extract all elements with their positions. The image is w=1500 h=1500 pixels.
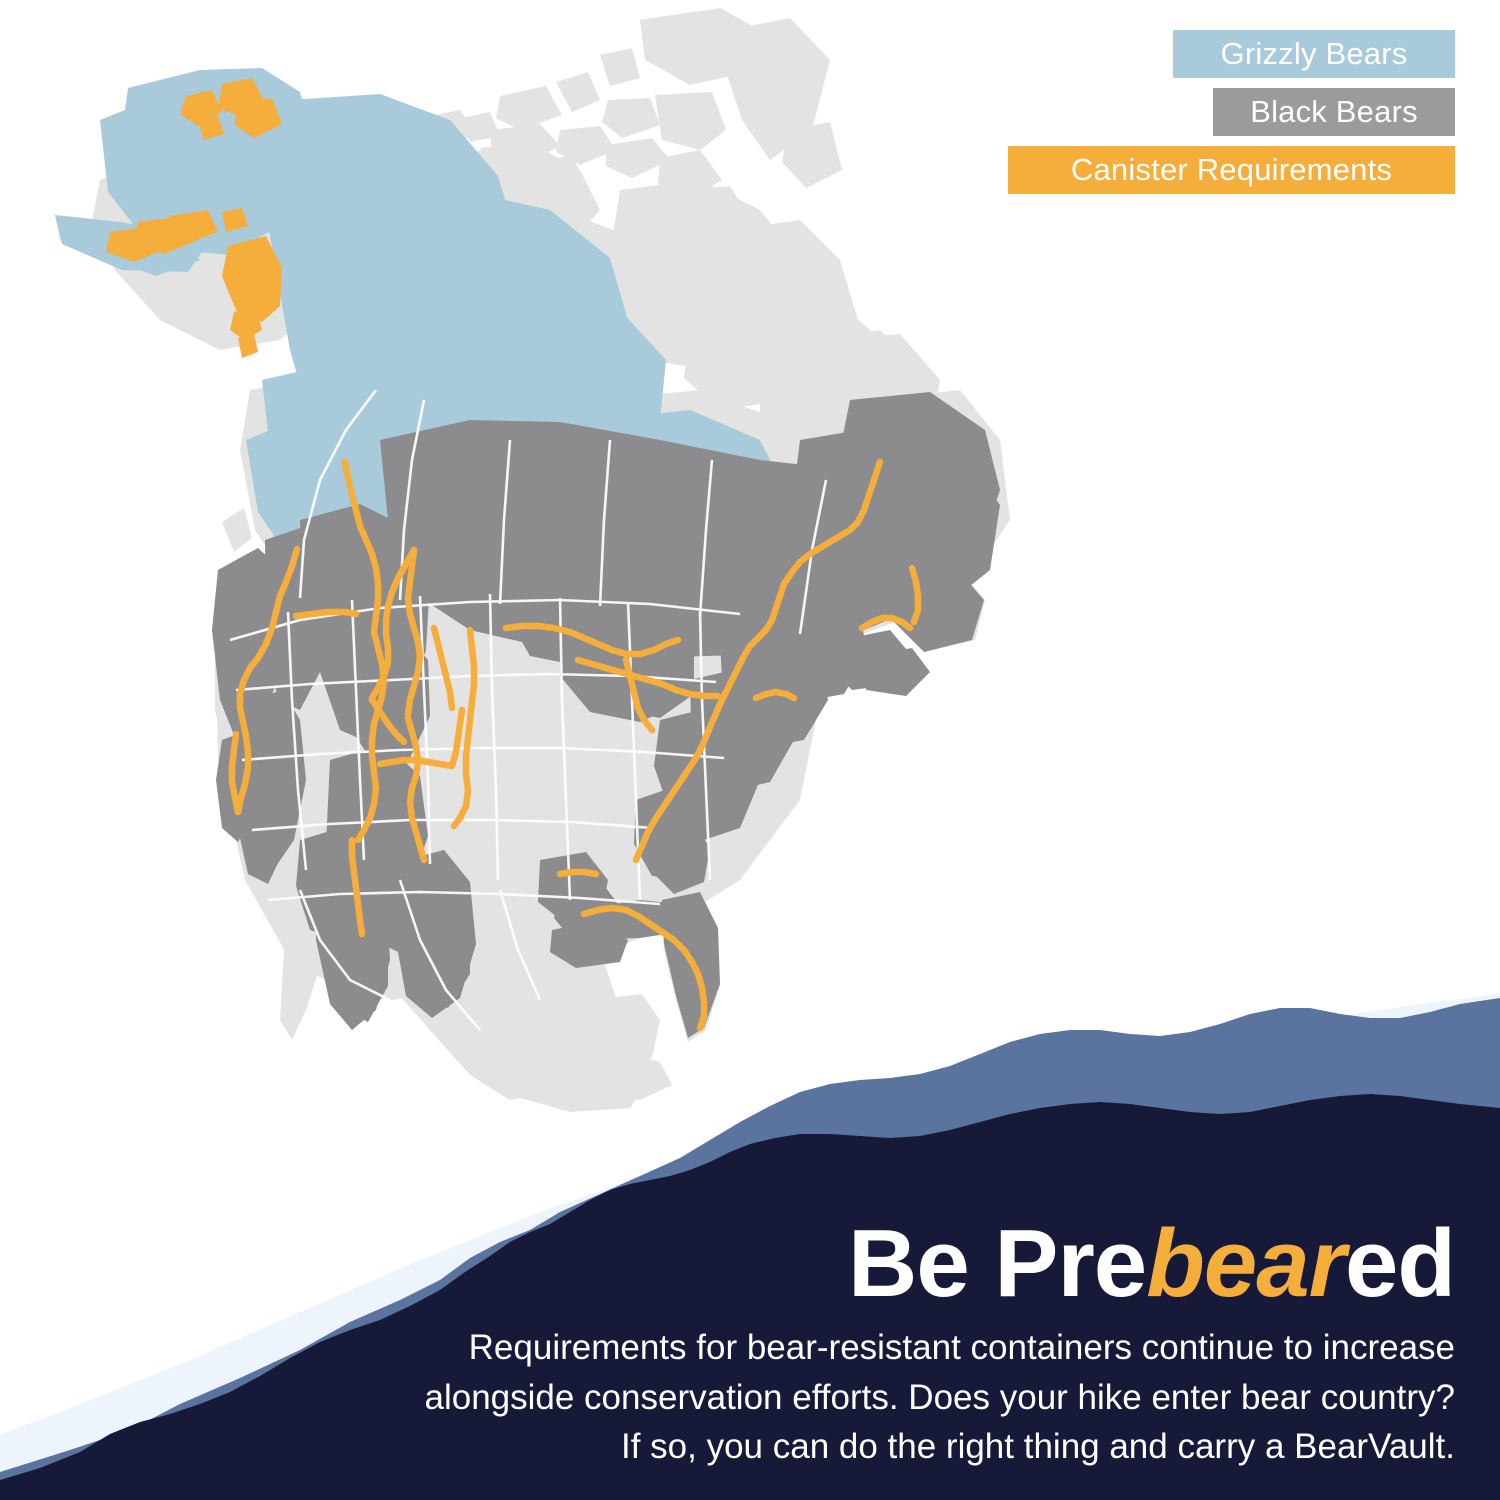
infographic-poster: Grizzly Bears Black Bears Canister Requi… <box>0 0 1500 1500</box>
page-title: Be Prebeared <box>848 1216 1455 1312</box>
body-copy-line-2: alongside conservation efforts. Does you… <box>345 1373 1455 1423</box>
legend-label-black-bears: Black Bears <box>1250 94 1418 130</box>
headline-accent-bear: bear <box>1146 1210 1345 1317</box>
headline-part-2: ed <box>1345 1210 1455 1317</box>
headline-block: Be Prebeared <box>848 1216 1455 1312</box>
map-legend: Grizzly Bears Black Bears Canister Requi… <box>1008 30 1455 194</box>
headline-part-1: Be Pre <box>848 1210 1146 1317</box>
legend-item-black-bears[interactable]: Black Bears <box>1213 88 1455 136</box>
body-copy-line-3: If so, you can do the right thing and ca… <box>345 1422 1455 1472</box>
legend-item-grizzly-bears[interactable]: Grizzly Bears <box>1173 30 1455 78</box>
body-copy: Requirements for bear-resistant containe… <box>345 1323 1455 1472</box>
legend-label-grizzly-bears: Grizzly Bears <box>1221 36 1408 72</box>
legend-item-canister-requirements[interactable]: Canister Requirements <box>1008 146 1455 194</box>
body-copy-line-1: Requirements for bear-resistant containe… <box>345 1323 1455 1373</box>
legend-label-canister-requirements: Canister Requirements <box>1071 152 1392 188</box>
